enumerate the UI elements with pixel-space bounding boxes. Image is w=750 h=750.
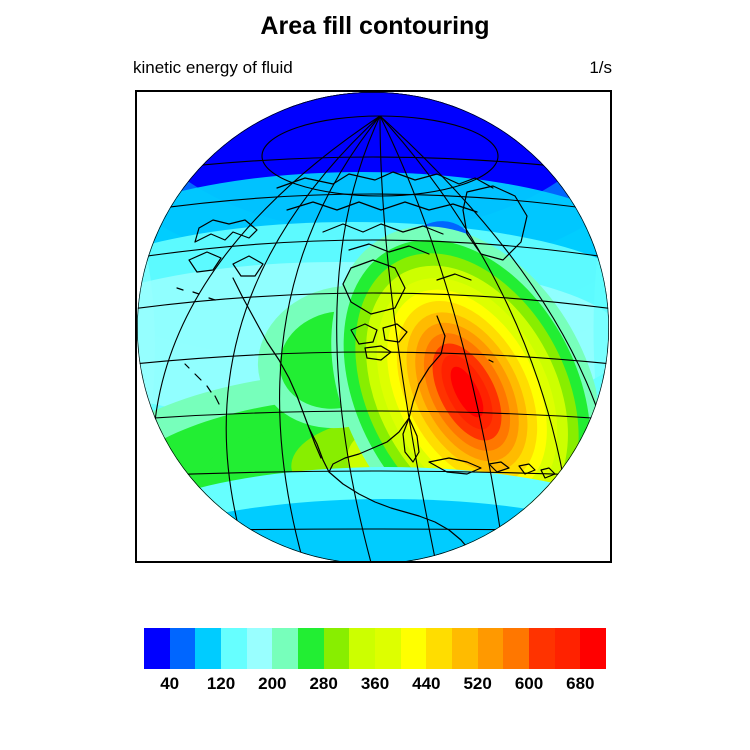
colorbar-bands bbox=[144, 628, 606, 669]
colorbar-tick-labels: 40120200280360440520600680 bbox=[144, 674, 606, 698]
colorbar-band bbox=[503, 628, 529, 669]
map-plot-frame bbox=[135, 90, 612, 563]
colorbar-band bbox=[555, 628, 581, 669]
colorbar-tick-label: 360 bbox=[361, 674, 389, 694]
page-title: Area fill contouring bbox=[0, 12, 750, 41]
colorbar-tick-label: 40 bbox=[160, 674, 179, 694]
colorbar-band bbox=[375, 628, 401, 669]
colorbar bbox=[144, 628, 606, 669]
plot-units-label: 1/s bbox=[589, 58, 612, 78]
colorbar-band bbox=[195, 628, 221, 669]
colorbar-tick-label: 520 bbox=[463, 674, 491, 694]
orthographic-globe-map bbox=[137, 92, 610, 561]
colorbar-band bbox=[478, 628, 504, 669]
colorbar-band bbox=[298, 628, 324, 669]
colorbar-band bbox=[426, 628, 452, 669]
colorbar-band bbox=[247, 628, 273, 669]
colorbar-band bbox=[144, 628, 170, 669]
colorbar-tick-label: 200 bbox=[258, 674, 286, 694]
colorbar-band bbox=[170, 628, 196, 669]
colorbar-tick-label: 120 bbox=[207, 674, 235, 694]
globe-contour-fill bbox=[137, 92, 610, 561]
colorbar-tick-label: 440 bbox=[412, 674, 440, 694]
colorbar-band bbox=[401, 628, 427, 669]
colorbar-band bbox=[349, 628, 375, 669]
colorbar-band bbox=[580, 628, 606, 669]
plot-subtitle-left: kinetic energy of fluid bbox=[133, 58, 293, 78]
colorbar-band bbox=[324, 628, 350, 669]
colorbar-band bbox=[272, 628, 298, 669]
plot-page: Area fill contouring kinetic energy of f… bbox=[0, 0, 750, 750]
colorbar-band bbox=[529, 628, 555, 669]
colorbar-tick-label: 680 bbox=[566, 674, 594, 694]
colorbar-band bbox=[452, 628, 478, 669]
colorbar-band bbox=[221, 628, 247, 669]
colorbar-tick-label: 280 bbox=[309, 674, 337, 694]
colorbar-tick-label: 600 bbox=[515, 674, 543, 694]
